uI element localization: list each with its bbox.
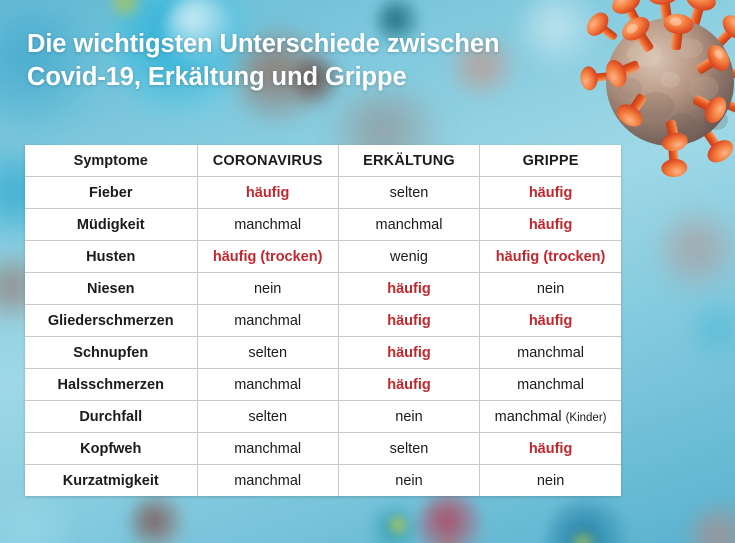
cell-value: manchmal <box>234 441 301 457</box>
cell-value: selten <box>390 185 429 201</box>
bokeh-particle <box>0 492 72 543</box>
symptom-value-cell: manchmal <box>480 337 621 369</box>
table-header-row: SymptomeCORONAVIRUSERKÄLTUNGGRIPPE <box>25 145 621 177</box>
bokeh-particle <box>440 530 456 543</box>
cell-value: manchmal <box>376 217 443 233</box>
bokeh-particle <box>568 528 598 543</box>
cell-value: manchmal <box>234 313 301 329</box>
symptom-comparison-table: SymptomeCORONAVIRUSERKÄLTUNGGRIPPEFieber… <box>25 145 621 496</box>
symptom-value-cell: selten <box>197 337 338 369</box>
symptom-value-cell: häufig <box>480 177 621 209</box>
cell-value: häufig <box>387 345 431 361</box>
bokeh-particle <box>385 512 411 538</box>
table-row: Schnupfenseltenhäufigmanchmal <box>25 337 621 369</box>
table-row: Kopfwehmanchmalseltenhäufig <box>25 433 621 465</box>
table-row: Gliederschmerzenmanchmalhäufighäufig <box>25 305 621 337</box>
symptom-value-cell: häufig <box>480 433 621 465</box>
cell-value: nein <box>395 409 422 425</box>
cell-value: nein <box>537 281 564 297</box>
bokeh-particle <box>108 0 142 22</box>
cell-value: nein <box>537 473 564 489</box>
table-row: Kurzatmigkeitmanchmalneinnein <box>25 465 621 497</box>
symptom-value-cell: häufig <box>197 177 338 209</box>
column-header-coronavirus: CORONAVIRUS <box>197 145 338 177</box>
cell-value: manchmal <box>495 409 562 425</box>
symptom-value-cell: häufig <box>480 209 621 241</box>
symptom-value-cell: manchmal <box>197 209 338 241</box>
bokeh-particle <box>370 505 422 543</box>
table-row: Halsschmerzenmanchmalhäufigmanchmal <box>25 369 621 401</box>
bokeh-particle <box>690 505 735 543</box>
symptom-label: Halsschmerzen <box>25 369 197 401</box>
cell-value: selten <box>248 409 287 425</box>
cell-value: wenig <box>390 249 428 265</box>
symptom-value-cell: häufig (trocken) <box>197 241 338 273</box>
cell-value: manchmal <box>234 473 301 489</box>
infographic-root: Die wichtigsten Unterschiede zwischen Co… <box>0 0 735 543</box>
symptom-label: Kopfweh <box>25 433 197 465</box>
bokeh-particle <box>128 495 186 543</box>
symptom-value-cell: häufig <box>338 369 479 401</box>
cell-value: häufig <box>529 217 573 233</box>
symptom-value-cell: manchmal <box>197 433 338 465</box>
table-body: SymptomeCORONAVIRUSERKÄLTUNGGRIPPEFieber… <box>25 145 621 496</box>
cell-value: manchmal <box>517 377 584 393</box>
symptom-value-cell: nein <box>338 401 479 433</box>
table-row: Niesenneinhäufignein <box>25 273 621 305</box>
cell-value: manchmal <box>517 345 584 361</box>
virus-body <box>606 18 734 146</box>
symptom-label: Husten <box>25 241 197 273</box>
bokeh-particle <box>660 210 735 295</box>
column-header-symptom: Symptome <box>25 145 197 177</box>
cell-value: manchmal <box>234 217 301 233</box>
symptom-value-cell: manchmal <box>338 209 479 241</box>
symptom-value-cell: nein <box>197 273 338 305</box>
symptom-value-cell: manchmal <box>197 369 338 401</box>
cell-value: manchmal <box>234 377 301 393</box>
bokeh-particle <box>115 498 177 543</box>
symptom-label: Müdigkeit <box>25 209 197 241</box>
cell-value: häufig <box>387 377 431 393</box>
symptom-label: Fieber <box>25 177 197 209</box>
cell-value: häufig <box>387 313 431 329</box>
title-line-2: Covid-19, Erkältung und Grippe <box>27 61 597 94</box>
symptom-label: Schnupfen <box>25 337 197 369</box>
cell-note: (Kinder) <box>566 412 607 424</box>
column-header-erkältung: ERKÄLTUNG <box>338 145 479 177</box>
bokeh-particle <box>690 300 735 365</box>
symptom-value-cell: manchmal (Kinder) <box>480 401 621 433</box>
symptom-value-cell: selten <box>197 401 338 433</box>
cell-value: selten <box>248 345 287 361</box>
cell-value: häufig (trocken) <box>496 249 606 265</box>
symptom-value-cell: häufig <box>338 273 479 305</box>
page-title: Die wichtigsten Unterschiede zwischen Co… <box>27 28 597 94</box>
table-row: Müdigkeitmanchmalmanchmalhäufig <box>25 209 621 241</box>
symptom-value-cell: selten <box>338 433 479 465</box>
table-row: Hustenhäufig (trocken)wenighäufig (trock… <box>25 241 621 273</box>
symptom-value-cell: manchmal <box>197 305 338 337</box>
cell-value: häufig <box>529 185 573 201</box>
symptom-value-cell: selten <box>338 177 479 209</box>
symptom-label: Durchfall <box>25 401 197 433</box>
symptom-value-cell: wenig <box>338 241 479 273</box>
virus-spikes-front <box>602 12 734 153</box>
symptom-value-cell: nein <box>480 465 621 497</box>
cell-value: häufig <box>246 185 290 201</box>
cell-value: nein <box>395 473 422 489</box>
cell-value: nein <box>254 281 281 297</box>
table-row: Durchfallseltenneinmanchmal (Kinder) <box>25 401 621 433</box>
table-row: Fieberhäufigseltenhäufig <box>25 177 621 209</box>
symptom-value-cell: häufig <box>338 337 479 369</box>
symptom-value-cell: nein <box>338 465 479 497</box>
column-header-grippe: GRIPPE <box>480 145 621 177</box>
symptom-label: Gliederschmerzen <box>25 305 197 337</box>
bokeh-particle <box>418 492 482 543</box>
symptom-value-cell: häufig <box>338 305 479 337</box>
bokeh-particle <box>545 498 631 543</box>
symptom-value-cell: manchmal <box>480 369 621 401</box>
cell-value: häufig <box>529 441 573 457</box>
cell-value: häufig <box>387 281 431 297</box>
symptom-label: Kurzatmigkeit <box>25 465 197 497</box>
cell-value: selten <box>390 441 429 457</box>
cell-value: häufig (trocken) <box>213 249 323 265</box>
symptom-value-cell: häufig <box>480 305 621 337</box>
symptom-label: Niesen <box>25 273 197 305</box>
title-line-1: Die wichtigsten Unterschiede zwischen <box>27 28 597 61</box>
symptom-value-cell: manchmal <box>197 465 338 497</box>
virus-body-texture <box>618 38 728 135</box>
cell-value: häufig <box>529 313 573 329</box>
symptom-value-cell: nein <box>480 273 621 305</box>
symptom-value-cell: häufig (trocken) <box>480 241 621 273</box>
